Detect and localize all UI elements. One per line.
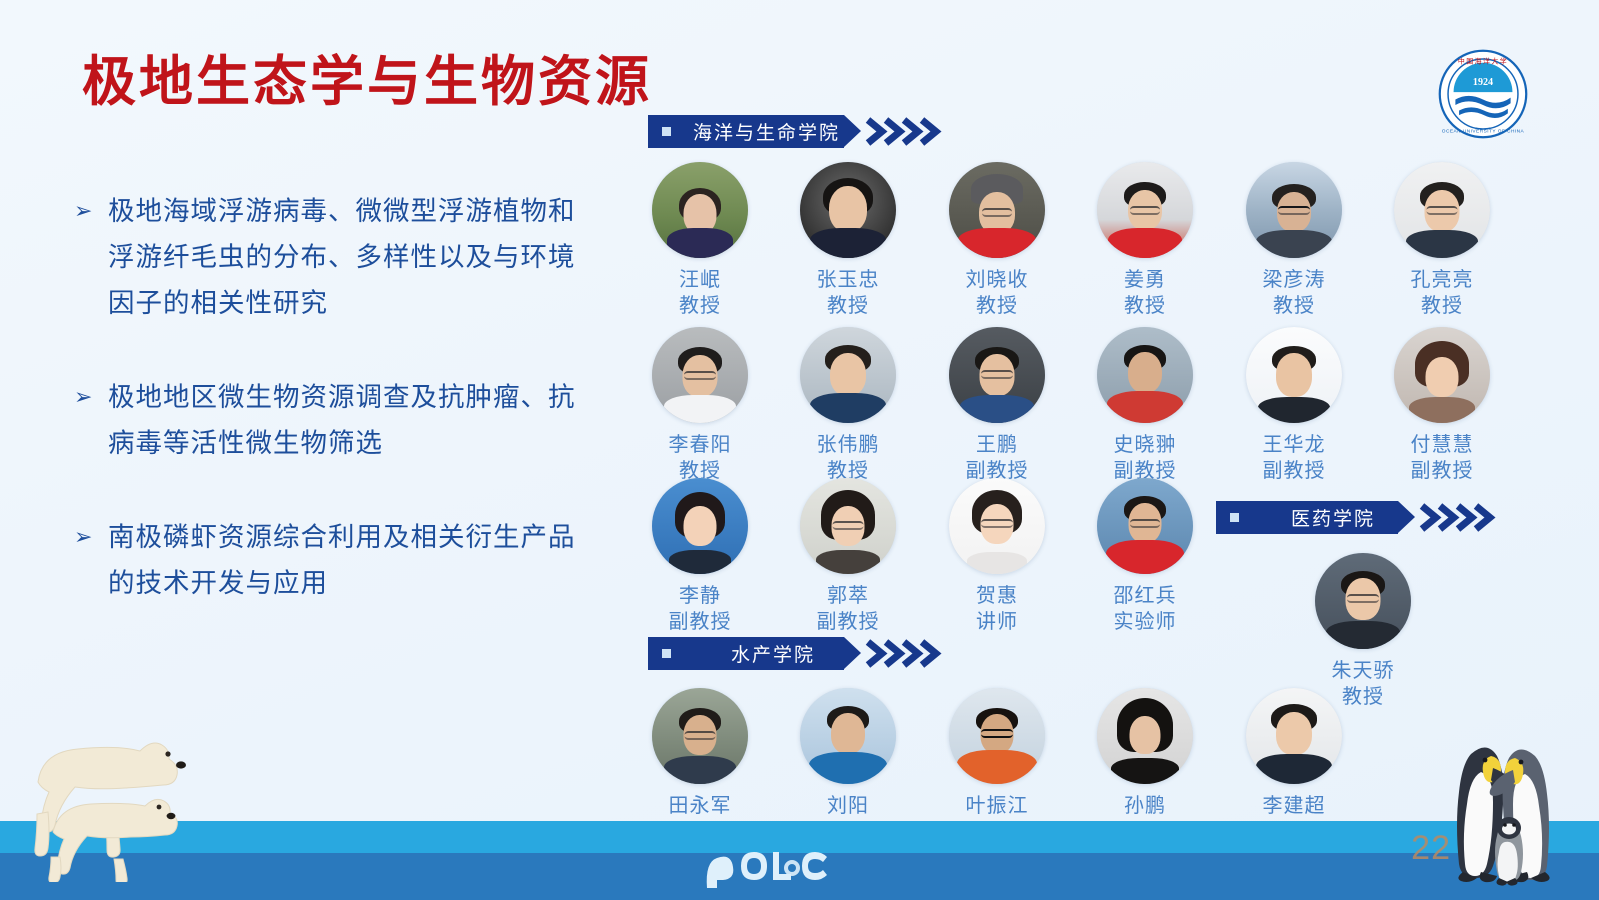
avatar [1097, 688, 1193, 784]
person-card[interactable]: 张伟鹏 教授 [773, 327, 923, 485]
person-name: 张玉忠 [773, 267, 923, 293]
avatar [652, 688, 748, 784]
person-card[interactable]: 李春阳 教授 [625, 327, 775, 485]
chevron-arrows-icon [864, 637, 950, 670]
slide-root: 极地生态学与生物资源 1924 中国海洋大学 OCEAN UNIVERSITY … [0, 0, 1599, 900]
person-card[interactable]: 李静 副教授 [625, 478, 775, 636]
avatar [1315, 553, 1411, 649]
person-name: 李建超 [1219, 793, 1369, 819]
person-card[interactable]: 刘晓收 教授 [922, 162, 1072, 320]
page-title: 极地生态学与生物资源 [82, 52, 652, 112]
person-name: 郭萃 [773, 583, 923, 609]
department-label: 海洋与生命学院 [693, 118, 840, 145]
avatar [1097, 327, 1193, 423]
avatar [949, 688, 1045, 784]
person-card[interactable]: 汪岷 教授 [625, 162, 775, 320]
avatar [949, 327, 1045, 423]
list-item-text: 极地地区微生物资源调查及抗肿瘤、抗病毒等活性微生物筛选 [108, 374, 590, 466]
research-topics-list: ➢ 极地海域浮游病毒、微微型浮游植物和浮游纤毛虫的分布、多样性以及与环境因子的相… [70, 188, 590, 654]
person-name: 叶振江 [922, 793, 1072, 819]
avatar [652, 327, 748, 423]
person-card[interactable]: 郭萃 副教授 [773, 478, 923, 636]
person-name: 刘晓收 [922, 267, 1072, 293]
avatar [1097, 162, 1193, 258]
person-name: 王鹏 [922, 432, 1072, 458]
person-name: 孙鹏 [1070, 793, 1220, 819]
department-banner-fisheries: 水产学院 [648, 637, 950, 670]
avatar [1394, 327, 1490, 423]
person-name: 田永军 [625, 793, 775, 819]
department-banner-medicine-pharmacy: 医药学院 [1216, 501, 1504, 534]
penguins-illustration [1419, 720, 1591, 892]
person-title: 教授 [1219, 293, 1369, 319]
person-card[interactable]: 姜勇 教授 [1070, 162, 1220, 320]
person-name: 梁彦涛 [1219, 267, 1369, 293]
avatar [1097, 478, 1193, 574]
chevron-arrows-icon [1418, 501, 1504, 534]
person-name: 李静 [625, 583, 775, 609]
person-title: 实验师 [1070, 609, 1220, 635]
person-name: 张伟鹏 [773, 432, 923, 458]
person-title: 副教授 [773, 609, 923, 635]
person-card[interactable]: 邵红兵 实验师 [1070, 478, 1220, 636]
list-item: ➢ 极地地区微生物资源调查及抗肿瘤、抗病毒等活性微生物筛选 [70, 374, 590, 466]
banner-square-icon [662, 649, 671, 658]
person-name: 汪岷 [625, 267, 775, 293]
avatar [800, 688, 896, 784]
person-name: 王华龙 [1219, 432, 1369, 458]
person-name: 邵红兵 [1070, 583, 1220, 609]
person-name: 朱天骄 [1288, 658, 1438, 684]
department-banner-marine-life: 海洋与生命学院 [648, 115, 950, 148]
person-title: 教授 [1070, 293, 1220, 319]
person-card[interactable]: 王华龙 副教授 [1219, 327, 1369, 485]
arrow-bullet-icon: ➢ [70, 188, 108, 234]
person-name: 李春阳 [625, 432, 775, 458]
ocean-university-of-china-logo: 1924 中国海洋大学 OCEAN UNIVERSITY OF CHINA [1437, 48, 1529, 140]
person-card[interactable]: 张玉忠 教授 [773, 162, 923, 320]
person-title: 讲师 [922, 609, 1072, 635]
polar-bears-illustration [8, 702, 258, 882]
avatar [949, 478, 1045, 574]
list-item-text: 极地海域浮游病毒、微微型浮游植物和浮游纤毛虫的分布、多样性以及与环境因子的相关性… [108, 188, 590, 326]
avatar [949, 162, 1045, 258]
person-name: 刘阳 [773, 793, 923, 819]
chevron-arrows-icon [864, 115, 950, 148]
person-card[interactable]: 贺惠 讲师 [922, 478, 1072, 636]
avatar [1246, 688, 1342, 784]
logo-ring-text-top: 中国海洋大学 [1458, 57, 1508, 66]
person-title: 副教授 [1219, 458, 1369, 484]
person-name: 史晓翀 [1070, 432, 1220, 458]
person-card[interactable]: 付慧慧 副教授 [1367, 327, 1517, 485]
person-name: 付慧慧 [1367, 432, 1517, 458]
person-card[interactable]: 孔亮亮 教授 [1367, 162, 1517, 320]
banner-square-icon [662, 127, 671, 136]
polar-research-logo [697, 840, 837, 896]
person-card[interactable]: 史晓翀 副教授 [1070, 327, 1220, 485]
avatar [1394, 162, 1490, 258]
person-title: 教授 [773, 293, 923, 319]
avatar [800, 162, 896, 258]
department-label: 水产学院 [731, 640, 815, 667]
banner-square-icon [1230, 513, 1239, 522]
person-title: 教授 [1367, 293, 1517, 319]
avatar [652, 162, 748, 258]
avatar [652, 478, 748, 574]
person-title: 副教授 [625, 609, 775, 635]
person-title: 副教授 [1367, 458, 1517, 484]
arrow-bullet-icon: ➢ [70, 374, 108, 420]
avatar [800, 478, 896, 574]
person-name: 姜勇 [1070, 267, 1220, 293]
logo-year: 1924 [1473, 77, 1493, 88]
avatar [800, 327, 896, 423]
person-name: 贺惠 [922, 583, 1072, 609]
arrow-bullet-icon: ➢ [70, 514, 108, 560]
list-item-text: 南极磷虾资源综合利用及相关衍生产品的技术开发与应用 [108, 514, 590, 606]
avatar [1246, 162, 1342, 258]
avatar [1246, 327, 1342, 423]
person-card[interactable]: 梁彦涛 教授 [1219, 162, 1369, 320]
person-name: 孔亮亮 [1367, 267, 1517, 293]
person-card[interactable]: 王鹏 副教授 [922, 327, 1072, 485]
person-title: 教授 [922, 293, 1072, 319]
list-item: ➢ 南极磷虾资源综合利用及相关衍生产品的技术开发与应用 [70, 514, 590, 606]
list-item: ➢ 极地海域浮游病毒、微微型浮游植物和浮游纤毛虫的分布、多样性以及与环境因子的相… [70, 188, 590, 326]
person-title: 教授 [625, 293, 775, 319]
department-label: 医药学院 [1291, 504, 1375, 531]
logo-ring-text-bottom: OCEAN UNIVERSITY OF CHINA [1442, 129, 1525, 135]
